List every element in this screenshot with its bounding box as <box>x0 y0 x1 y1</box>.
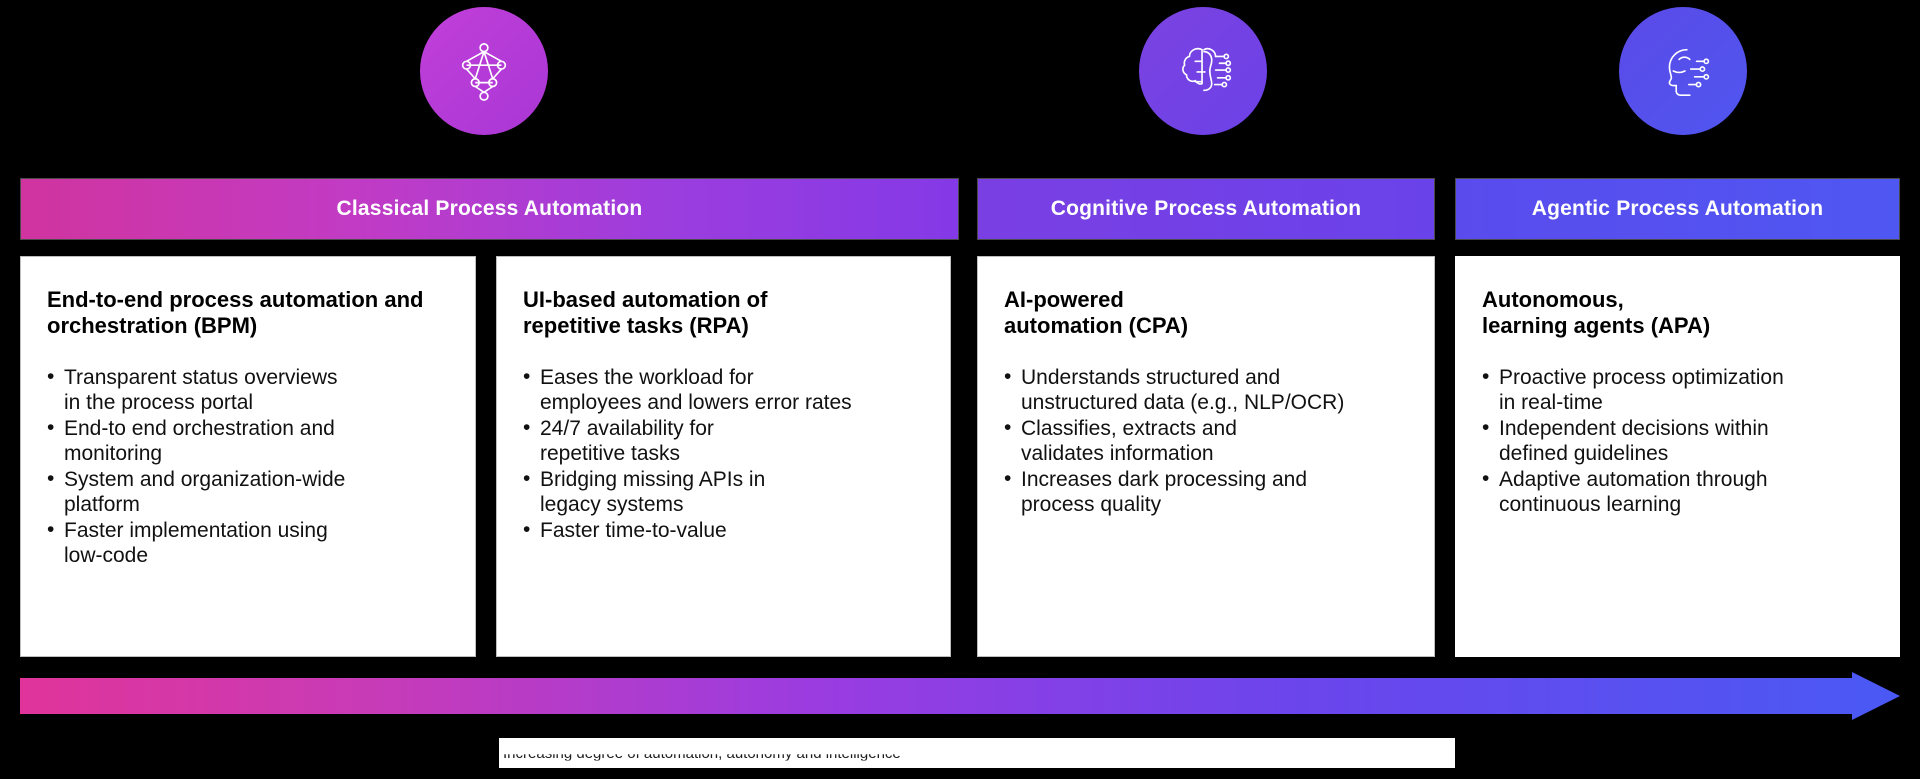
card-bullet-list: Understands structured and unstructured … <box>1004 366 1412 517</box>
list-item: Proactive process optimization in real-t… <box>1482 366 1877 415</box>
brain-circuit-icon <box>1139 7 1267 135</box>
card-heading: Autonomous, learning agents (APA) <box>1482 287 1877 338</box>
list-item: Adaptive automation through continuous l… <box>1482 468 1877 517</box>
list-item: Transparent status overviews in the proc… <box>47 366 453 415</box>
ai-head-profile-icon <box>1619 7 1747 135</box>
card-bullet-list: Proactive process optimization in real-t… <box>1482 366 1877 517</box>
list-item: Faster time-to-value <box>523 519 928 544</box>
card-bullet-list: Transparent status overviews in the proc… <box>47 366 453 569</box>
list-item: End-to end orchestration and monitoring <box>47 417 453 466</box>
header-classical-process-automation[interactable]: Classical Process Automation <box>20 178 959 240</box>
list-item: Classifies, extracts and validates infor… <box>1004 417 1412 466</box>
caption-text: Increasing degree of automation, autonom… <box>495 746 901 761</box>
card-rpa: UI-based automation of repetitive tasks … <box>496 256 951 657</box>
caption-strip: Increasing degree of automation, autonom… <box>495 738 1455 768</box>
card-heading: AI-powered automation (CPA) <box>1004 287 1412 338</box>
neural-network-icon <box>420 7 548 135</box>
list-item: Increases dark processing and process qu… <box>1004 468 1412 517</box>
header-label: Agentic Process Automation <box>1532 197 1823 221</box>
list-item: 24/7 availability for repetitive tasks <box>523 417 928 466</box>
header-label: Cognitive Process Automation <box>1051 197 1362 221</box>
caption-divider <box>495 738 499 768</box>
icon-row <box>0 0 1920 140</box>
list-item: Independent decisions within defined gui… <box>1482 417 1877 466</box>
card-heading: End-to-end process automation and orches… <box>47 287 453 338</box>
header-label: Classical Process Automation <box>337 197 643 221</box>
card-cpa: AI-powered automation (CPA) Understands … <box>977 256 1435 657</box>
card-heading: UI-based automation of repetitive tasks … <box>523 287 928 338</box>
card-bullet-list: Eases the workload for employees and low… <box>523 366 928 544</box>
diagram-canvas: Classical Process Automation Cognitive P… <box>0 0 1920 779</box>
header-agentic-process-automation[interactable]: Agentic Process Automation <box>1455 178 1900 240</box>
maturity-progression-arrow <box>20 672 1900 720</box>
list-item: Bridging missing APIs in legacy systems <box>523 468 928 517</box>
card-bpm: End-to-end process automation and orches… <box>20 256 476 657</box>
header-cognitive-process-automation[interactable]: Cognitive Process Automation <box>977 178 1435 240</box>
list-item: Faster implementation using low-code <box>47 519 453 568</box>
list-item: System and organization-wide platform <box>47 468 453 517</box>
list-item: Eases the workload for employees and low… <box>523 366 928 415</box>
list-item: Understands structured and unstructured … <box>1004 366 1412 415</box>
card-apa: Autonomous, learning agents (APA) Proact… <box>1455 256 1900 657</box>
